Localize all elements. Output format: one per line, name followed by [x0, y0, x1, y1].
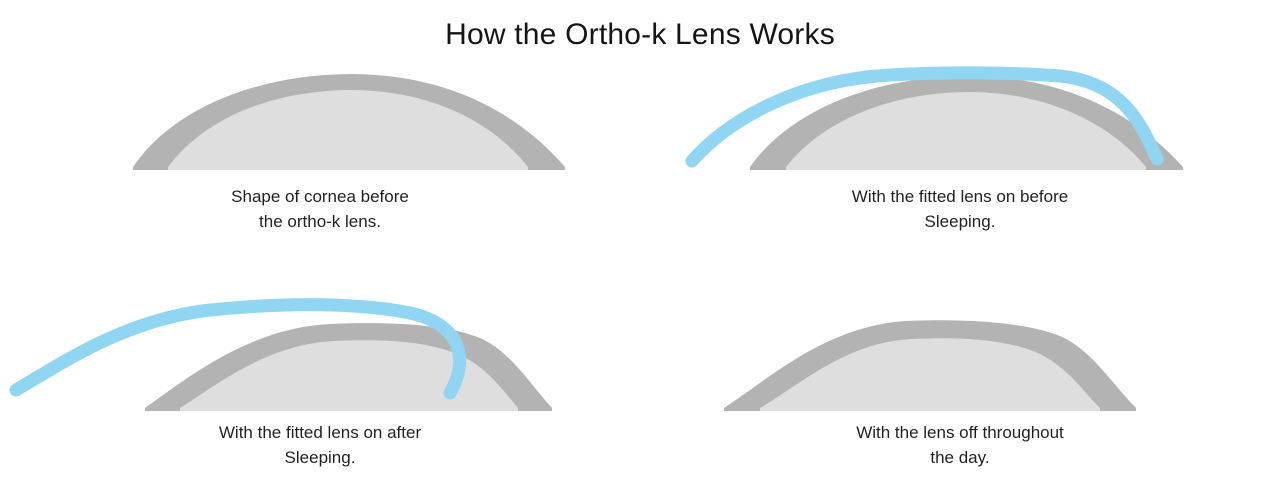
flattened-cornea-diagram	[640, 296, 1280, 421]
panel-caption: With the fitted lens on after Sleeping.	[0, 420, 640, 470]
caption-line-1: With the lens off throughout	[640, 420, 1280, 445]
panel-lens-off-day: With the lens off throughout the day.	[640, 296, 1280, 496]
infographic-root: How the Ortho-k Lens Works Shape of corn…	[0, 0, 1280, 480]
panel-caption: Shape of cornea before the ortho-k lens.	[0, 184, 640, 234]
caption-line-2: Sleeping.	[0, 445, 640, 470]
caption-line-1: With the fitted lens on before	[640, 184, 1280, 209]
panel-lens-after-sleeping: With the fitted lens on after Sleeping.	[0, 296, 640, 496]
caption-line-1: Shape of cornea before	[0, 184, 640, 209]
page-title: How the Ortho-k Lens Works	[0, 16, 1280, 54]
caption-line-2: the day.	[640, 445, 1280, 470]
panel-lens-before-sleeping: With the fitted lens on before Sleeping.	[640, 60, 1280, 260]
panel-cornea-before: Shape of cornea before the ortho-k lens.	[0, 60, 640, 260]
cornea-steep-diagram	[0, 60, 640, 185]
panel-caption: With the lens off throughout the day.	[640, 420, 1280, 470]
panel-caption: With the fitted lens on before Sleeping.	[640, 184, 1280, 234]
flattened-cornea-with-lens-diagram	[0, 296, 640, 421]
caption-line-2: Sleeping.	[640, 209, 1280, 234]
caption-line-1: With the fitted lens on after	[0, 420, 640, 445]
caption-line-2: the ortho-k lens.	[0, 209, 640, 234]
cornea-with-lens-before-diagram	[640, 60, 1280, 185]
